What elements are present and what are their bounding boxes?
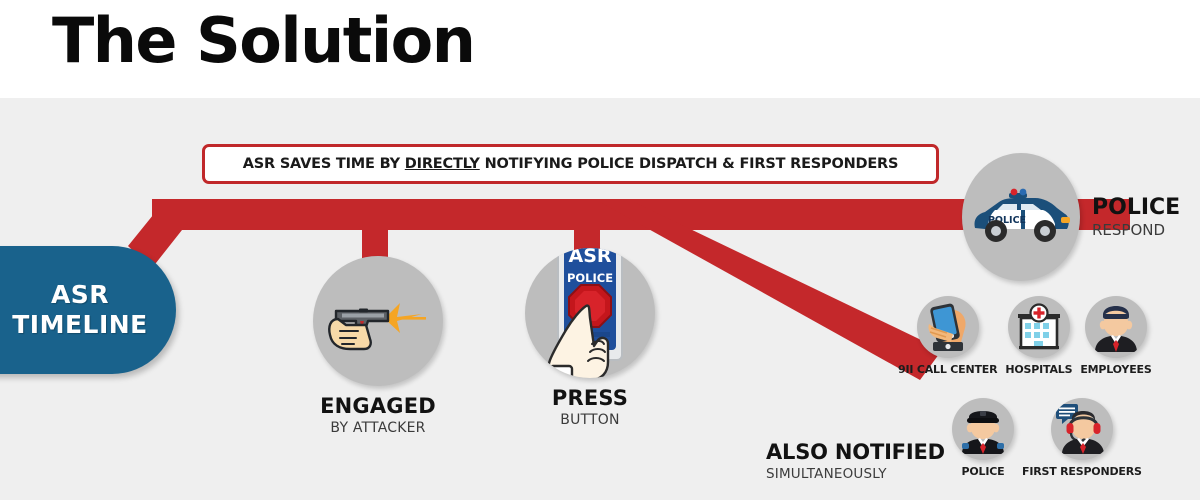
node-press: ASR POLICE bbox=[522, 248, 658, 428]
first-responders-caption: FIRST RESPONDERS bbox=[1022, 465, 1142, 478]
headset-operator-avatar-icon bbox=[1055, 402, 1109, 456]
police-circle bbox=[952, 398, 1014, 460]
page-title: The Solution bbox=[52, 8, 474, 73]
police-officer-avatar-icon bbox=[956, 402, 1010, 456]
also-notified-subtitle: SIMULTANEOUSLY bbox=[766, 466, 945, 482]
engaged-title: ENGAGED bbox=[310, 394, 446, 418]
employee-avatar-icon bbox=[1089, 300, 1143, 354]
banner-text-part1: ASR SAVES TIME BY bbox=[243, 156, 405, 172]
mini-hospitals: HOSPITALS bbox=[1005, 296, 1072, 376]
press-label: PRESS BUTTON bbox=[522, 386, 658, 428]
employees-circle bbox=[1085, 296, 1147, 358]
banner-callout: ASR SAVES TIME BY DIRECTLY NOTIFYING POL… bbox=[202, 144, 939, 184]
hospitals-caption: HOSPITALS bbox=[1005, 363, 1072, 376]
engaged-subtitle: BY ATTACKER bbox=[310, 420, 446, 436]
node-engaged: ENGAGED BY ATTACKER bbox=[310, 256, 446, 436]
mini-first-responders: FIRST RESPONDERS bbox=[1022, 398, 1142, 478]
asr-police-call-station-icon: ASR POLICE bbox=[534, 248, 646, 378]
police-respond-subtitle: RESPOND bbox=[1092, 221, 1180, 239]
station-brand-text: ASR bbox=[568, 248, 611, 267]
diagram-stage: ASR SAVES TIME BY DIRECTLY NOTIFYING POL… bbox=[0, 98, 1200, 500]
hand-holding-smartphone-icon bbox=[921, 300, 975, 354]
employees-caption: EMPLOYEES bbox=[1080, 363, 1151, 376]
press-subtitle: BUTTON bbox=[522, 412, 658, 428]
also-notified-bottom-row: POLICE bbox=[952, 398, 1142, 478]
banner-text-emphasis: DIRECTLY bbox=[405, 156, 480, 172]
engaged-label: ENGAGED BY ATTACKER bbox=[310, 394, 446, 436]
press-circle: ASR POLICE bbox=[525, 248, 655, 378]
station-police-text: POLICE bbox=[567, 271, 613, 285]
also-notified-label: ALSO NOTIFIED SIMULTANEOUSLY bbox=[766, 440, 945, 482]
police-car-icon: POLICE bbox=[969, 186, 1073, 248]
engaged-circle bbox=[313, 256, 443, 386]
call-center-caption: 9II CALL CENTER bbox=[898, 363, 997, 376]
police-respond-title: POLICE bbox=[1092, 195, 1180, 220]
hospitals-circle bbox=[1008, 296, 1070, 358]
first-responders-circle bbox=[1051, 398, 1113, 460]
asr-timeline-line2: TIMELINE bbox=[0, 310, 148, 341]
banner-text-part2: NOTIFYING POLICE DISPATCH & FIRST RESPON… bbox=[480, 156, 899, 172]
banner-text: ASR SAVES TIME BY DIRECTLY NOTIFYING POL… bbox=[243, 156, 899, 172]
police-respond-circle: POLICE bbox=[962, 153, 1080, 281]
also-notified-top-row: 9II CALL CENTER bbox=[898, 296, 1152, 376]
asr-timeline-line1: ASR bbox=[5, 280, 109, 311]
slide-root: The Solution ASR SAVES TIME BY DIRECTLY … bbox=[0, 0, 1200, 500]
gun-icon bbox=[326, 281, 430, 361]
mini-police: POLICE bbox=[952, 398, 1014, 478]
press-title: PRESS bbox=[522, 386, 658, 410]
header-band: The Solution bbox=[0, 0, 1200, 98]
also-notified-title: ALSO NOTIFIED bbox=[766, 440, 945, 464]
police-caption: POLICE bbox=[962, 465, 1005, 478]
mini-employees: EMPLOYEES bbox=[1080, 296, 1151, 376]
asr-timeline-badge: ASR TIMELINE bbox=[0, 246, 176, 374]
police-respond-label: POLICE RESPOND bbox=[1092, 195, 1180, 239]
call-center-circle bbox=[917, 296, 979, 358]
mini-call-center: 9II CALL CENTER bbox=[898, 296, 997, 376]
node-police-respond: POLICE POLICE RESPOND bbox=[962, 153, 1194, 281]
hospital-building-icon bbox=[1014, 302, 1064, 352]
